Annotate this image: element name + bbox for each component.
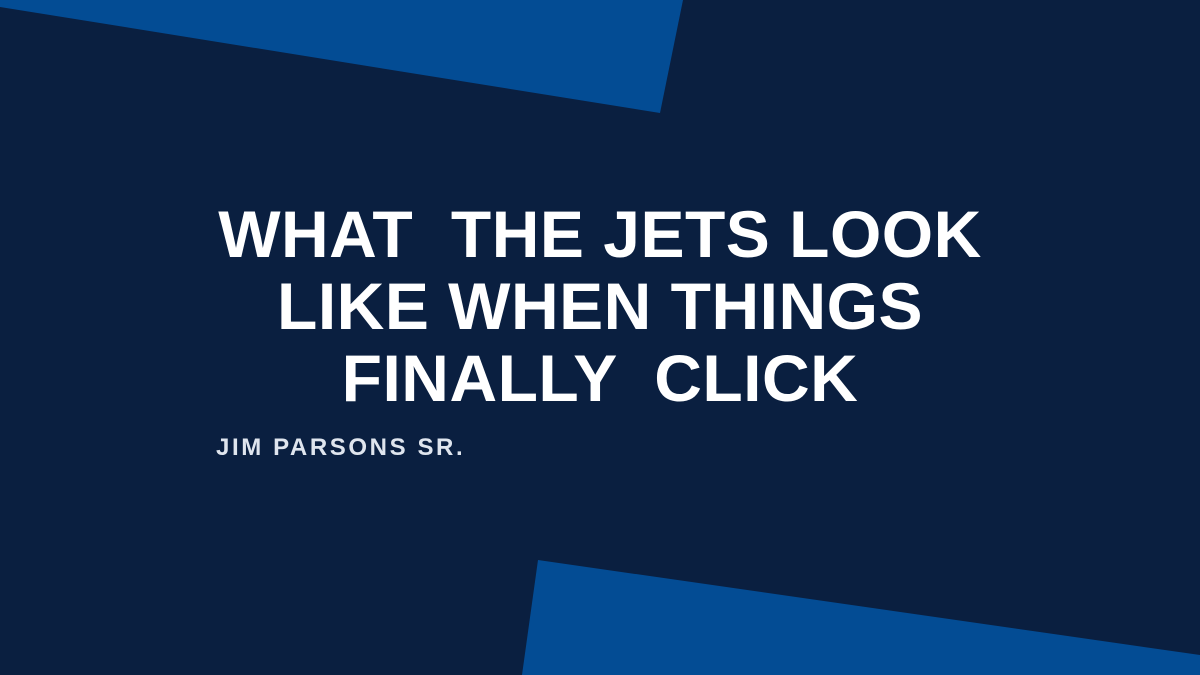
title-line-1: WHAT THE JETS LOOK xyxy=(0,198,1200,270)
title-line-3: FINALLY CLICK xyxy=(0,342,1200,414)
subtitle-author-name: JIM PARSONS SR. xyxy=(216,433,465,463)
page-title: WHAT THE JETS LOOK LIKE WHEN THINGS FINA… xyxy=(0,198,1200,414)
slide-content: WHAT THE JETS LOOK LIKE WHEN THINGS FINA… xyxy=(0,0,1200,675)
presentation-slide: WHAT THE JETS LOOK LIKE WHEN THINGS FINA… xyxy=(0,0,1200,675)
subtitle: JIM PARSONS SR. xyxy=(216,433,1036,463)
title-line-2: LIKE WHEN THINGS xyxy=(0,270,1200,342)
